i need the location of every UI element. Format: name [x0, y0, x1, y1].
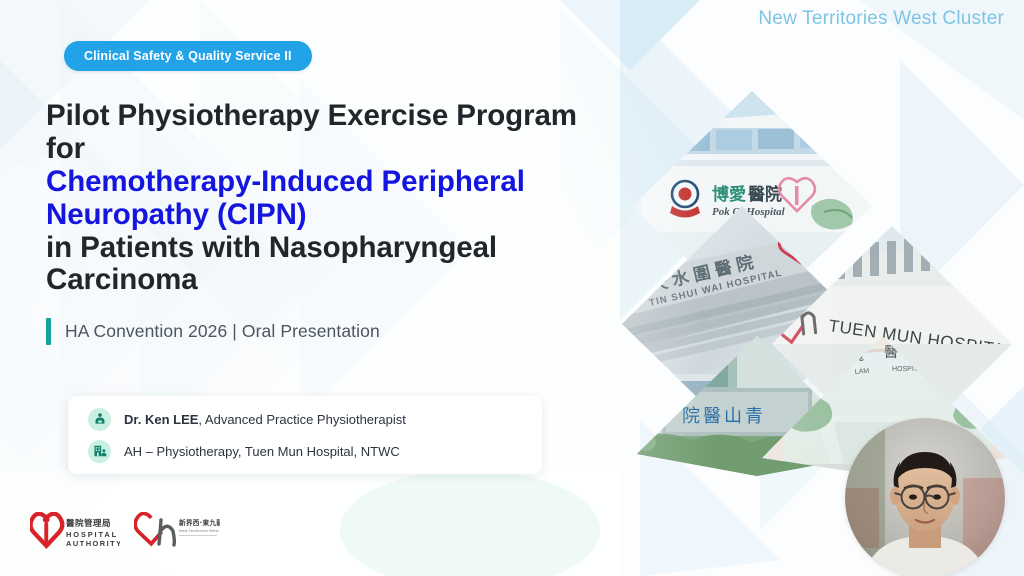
footer-logos: 醫院管理局 HOSPITAL AUTHORITY 新界西·東九龍醫 New Te… [30, 512, 220, 552]
session-category-badge: Clinical Safety & Quality Service II [64, 41, 312, 71]
svg-text:AUTHORITY: AUTHORITY [66, 539, 120, 548]
hospital-authority-logo: 醫院管理局 HOSPITAL AUTHORITY [30, 512, 120, 552]
subtitle-block: HA Convention 2026 | Oral Presentation [46, 318, 380, 345]
title-line-3-highlight: Chemotherapy-Induced Peripheral [46, 166, 606, 199]
subtitle: HA Convention 2026 | Oral Presentation [65, 321, 380, 342]
svg-text:新界西·東九龍醫: 新界西·東九龍醫 [179, 518, 220, 527]
affiliation-text: AH – Physiotherapy, Tuen Mun Hospital, N… [124, 444, 400, 459]
ntwc-logo: 新界西·東九龍醫 New Territories West Cluster [134, 512, 220, 552]
title-line-5: in Patients with Nasopharyngeal [46, 232, 606, 265]
hospital-staff-icon [88, 440, 111, 463]
presenter-role: , Advanced Practice Physiotherapist [198, 412, 405, 427]
title-line-6: Carcinoma [46, 264, 606, 297]
hospital-photo-collage: 博愛 醫院 Pok Oi Hospital 天水圍醫院 TIN SH [612, 86, 1024, 476]
presenter-name: Dr. Ken LEE [124, 412, 198, 427]
svg-text:醫院管理局: 醫院管理局 [66, 518, 111, 529]
svg-text:New Territories West Cluster: New Territories West Cluster [179, 528, 220, 533]
presenter-portrait [845, 418, 1005, 576]
presenter-row: Dr. Ken LEE, Advanced Practice Physiothe… [88, 403, 542, 435]
doctor-icon [88, 408, 111, 431]
cluster-label: New Territories West Cluster [758, 8, 1004, 30]
author-card: Dr. Ken LEE, Advanced Practice Physiothe… [68, 396, 542, 474]
page-title: Pilot Physiotherapy Exercise Program for… [46, 100, 606, 297]
presenter-text: Dr. Ken LEE, Advanced Practice Physiothe… [124, 412, 406, 427]
presentation-title-slide: New Territories West Cluster Clinical Sa… [0, 0, 1024, 576]
title-line-2: for [46, 133, 606, 166]
title-line-4-highlight: Neuropathy (CIPN) [46, 199, 606, 232]
accent-bar [46, 318, 51, 345]
affiliation-row: AH – Physiotherapy, Tuen Mun Hospital, N… [88, 435, 542, 467]
title-line-1: Pilot Physiotherapy Exercise Program [46, 100, 606, 133]
svg-text:HOSPITAL: HOSPITAL [66, 530, 118, 539]
